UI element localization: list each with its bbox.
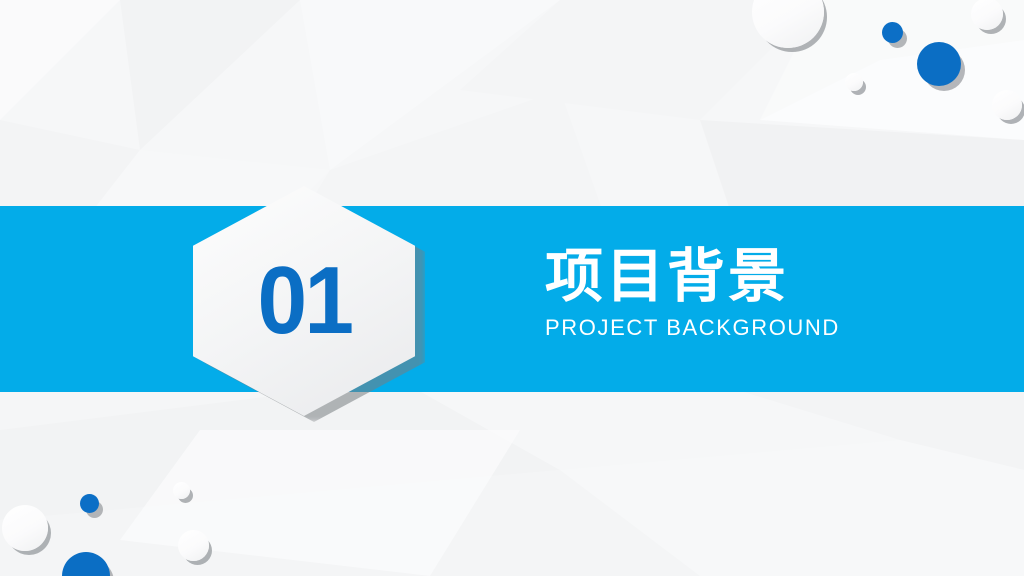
slide-canvas: 01 项目背景 PROJECT BACKGROUND	[0, 0, 1024, 576]
section-number-badge: 01	[193, 186, 425, 422]
circle-bottom-tiny-white	[173, 482, 190, 499]
section-title: 项目背景	[545, 246, 965, 309]
circle-top-tiny-white	[845, 73, 863, 91]
section-heading-block: 项目背景 PROJECT BACKGROUND	[545, 246, 965, 339]
circle-bottom-left-white	[2, 505, 48, 551]
section-subtitle: PROJECT BACKGROUND	[545, 317, 965, 339]
circle-bottom-mid-white	[178, 530, 209, 561]
circle-right-mid-white	[992, 90, 1022, 120]
hexagon-content: 01	[193, 186, 415, 416]
circle-top-small-blue	[882, 22, 903, 43]
circle-top-large-blue	[917, 42, 961, 86]
circle-bottom-small-blue	[80, 494, 99, 513]
section-number-text: 01	[257, 253, 351, 349]
